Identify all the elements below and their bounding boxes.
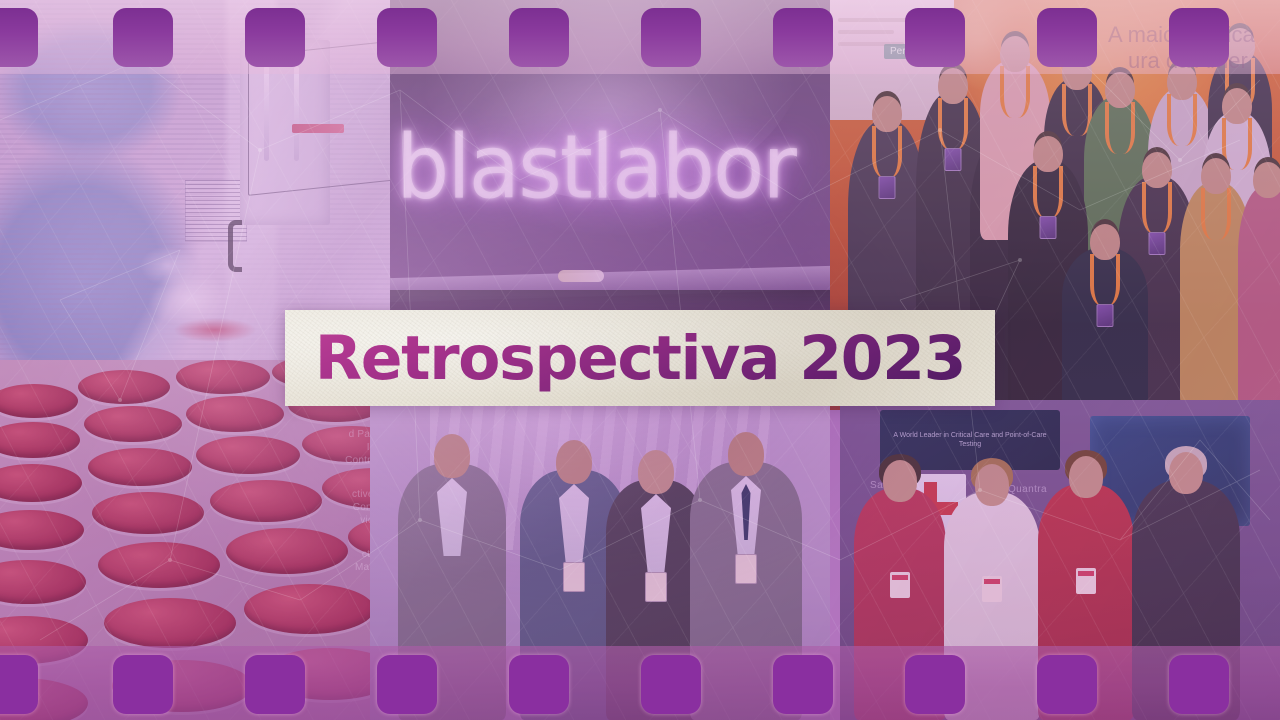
booth-screen-text: A World Leader in Critical Care and Poin… <box>885 431 1054 449</box>
title-banner: Retrospectiva 2023 <box>285 310 995 406</box>
film-hole <box>773 8 833 67</box>
film-hole <box>1037 8 1097 67</box>
film-hole <box>113 8 173 67</box>
page-title: Retrospectiva 2023 <box>315 323 965 394</box>
film-hole <box>1037 655 1097 714</box>
film-hole <box>0 655 38 714</box>
film-strip-top <box>0 0 1280 74</box>
poster-canvas: blastlabor <box>0 0 1280 720</box>
film-hole <box>641 655 701 714</box>
film-hole <box>0 8 38 67</box>
film-hole <box>509 8 569 67</box>
film-hole <box>113 655 173 714</box>
group-person <box>1062 248 1148 410</box>
booth-shelf-label-quantra: Quantra <box>1008 484 1047 495</box>
film-strip-bottom <box>0 646 1280 720</box>
stage-pill-light <box>558 270 604 282</box>
film-hole <box>377 8 437 67</box>
film-hole <box>245 8 305 67</box>
film-hole <box>641 8 701 67</box>
film-hole <box>773 655 833 714</box>
blastlabor-sign-text: blastlabor <box>396 116 795 219</box>
instrument-handle <box>228 220 242 272</box>
film-hole <box>377 655 437 714</box>
group-person <box>1238 186 1280 410</box>
film-hole <box>905 655 965 714</box>
film-hole <box>905 8 965 67</box>
film-hole <box>245 655 305 714</box>
film-hole <box>509 655 569 714</box>
film-hole <box>1169 655 1229 714</box>
film-hole <box>1169 8 1229 67</box>
